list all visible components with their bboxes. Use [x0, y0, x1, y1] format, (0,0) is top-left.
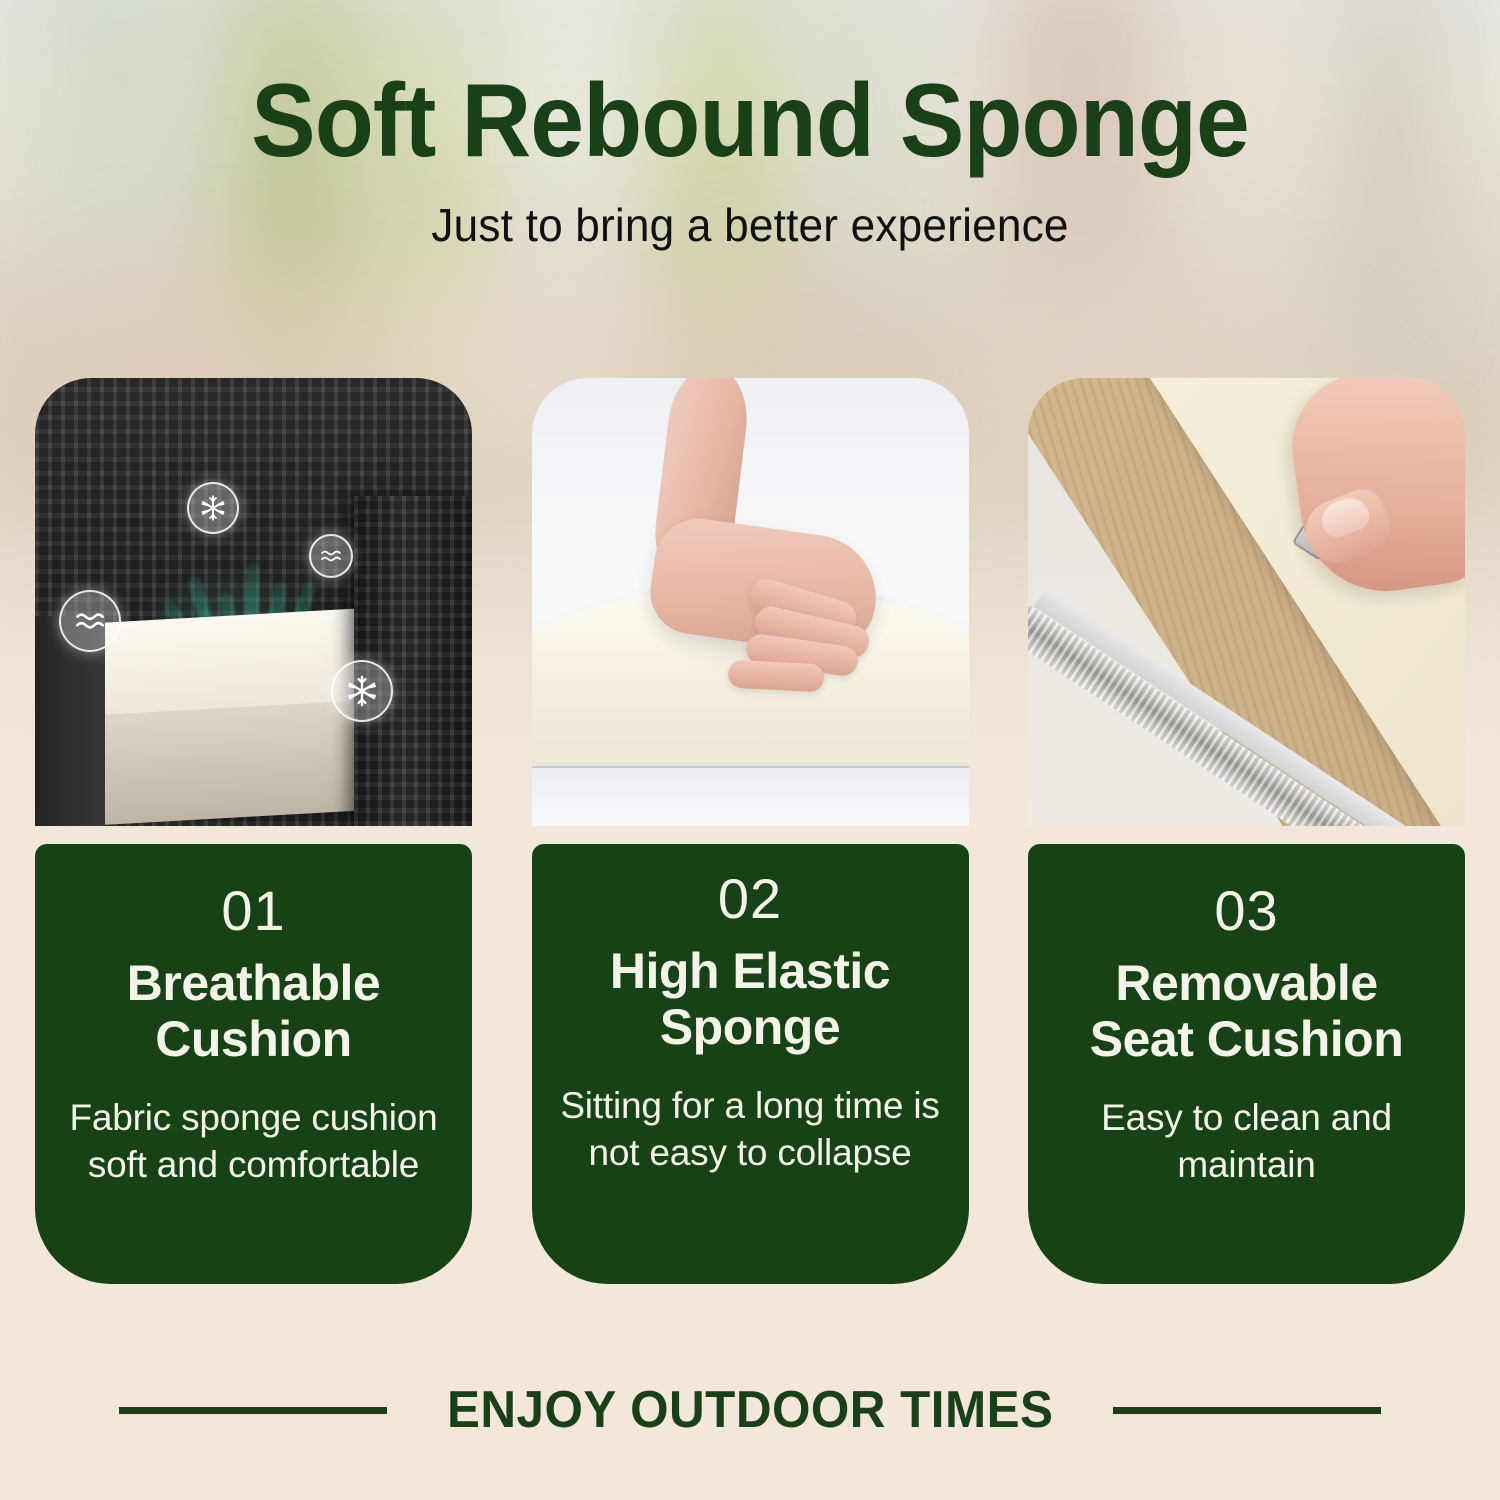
feature-grid: 01 Breathable Cushion Fabric sponge cush…: [35, 378, 1465, 1288]
feature-column-1: 01 Breathable Cushion Fabric sponge cush…: [35, 378, 472, 1288]
finger: [727, 660, 824, 693]
feature-card-3: 03 Removable Seat Cushion Easy to clean …: [1028, 844, 1465, 1284]
footer-rule-left: [119, 1407, 387, 1414]
feature-title-line-2: Seat Cushion: [1048, 1011, 1445, 1068]
feature-title-line-1: High Elastic: [552, 943, 949, 1000]
page-subtitle: Just to bring a better experience: [30, 198, 1470, 252]
feature-card-1: 01 Breathable Cushion Fabric sponge cush…: [35, 844, 472, 1284]
snowflake-icon: [187, 482, 239, 534]
feature-description: Fabric sponge cushion soft and comfortab…: [55, 1094, 452, 1189]
foam-base-surface: [532, 766, 969, 826]
footer: ENJOY OUTDOOR TIMES: [0, 1380, 1500, 1440]
feature-title-line-1: Removable: [1048, 955, 1445, 1012]
airflow-icon: [59, 590, 121, 652]
feature-title: Breathable Cushion: [55, 955, 452, 1068]
feature-photo-breathable-cushion: [35, 378, 472, 826]
page-title: Soft Rebound Sponge: [53, 68, 1448, 174]
footer-rule-right: [1113, 1407, 1381, 1414]
feature-number: 01: [55, 882, 452, 941]
feature-title-line-2: Cushion: [55, 1011, 452, 1068]
feature-number: 02: [552, 870, 949, 929]
feature-title-line-1: Breathable: [55, 955, 452, 1012]
airflow-icon: [309, 534, 353, 578]
feature-title-line-2: Sponge: [552, 999, 949, 1056]
feature-number: 03: [1048, 882, 1445, 941]
feature-photo-high-elastic-sponge: [532, 378, 969, 826]
feature-title: High Elastic Sponge: [552, 943, 949, 1056]
snowflake-icon: [331, 660, 393, 722]
feature-card-2: 02 High Elastic Sponge Sitting for a lon…: [532, 844, 969, 1284]
feature-photo-removable-seat-cushion: [1028, 378, 1465, 826]
footer-tagline: ENJOY OUTDOOR TIMES: [447, 1380, 1053, 1440]
feature-description: Easy to clean and maintain: [1048, 1094, 1445, 1189]
feature-title: Removable Seat Cushion: [1048, 955, 1445, 1068]
header: Soft Rebound Sponge Just to bring a bett…: [0, 0, 1500, 252]
feature-column-2: 02 High Elastic Sponge Sitting for a lon…: [532, 378, 969, 1288]
feature-description: Sitting for a long time is not easy to c…: [552, 1082, 949, 1177]
feature-column-3: 03 Removable Seat Cushion Easy to clean …: [1028, 378, 1465, 1288]
